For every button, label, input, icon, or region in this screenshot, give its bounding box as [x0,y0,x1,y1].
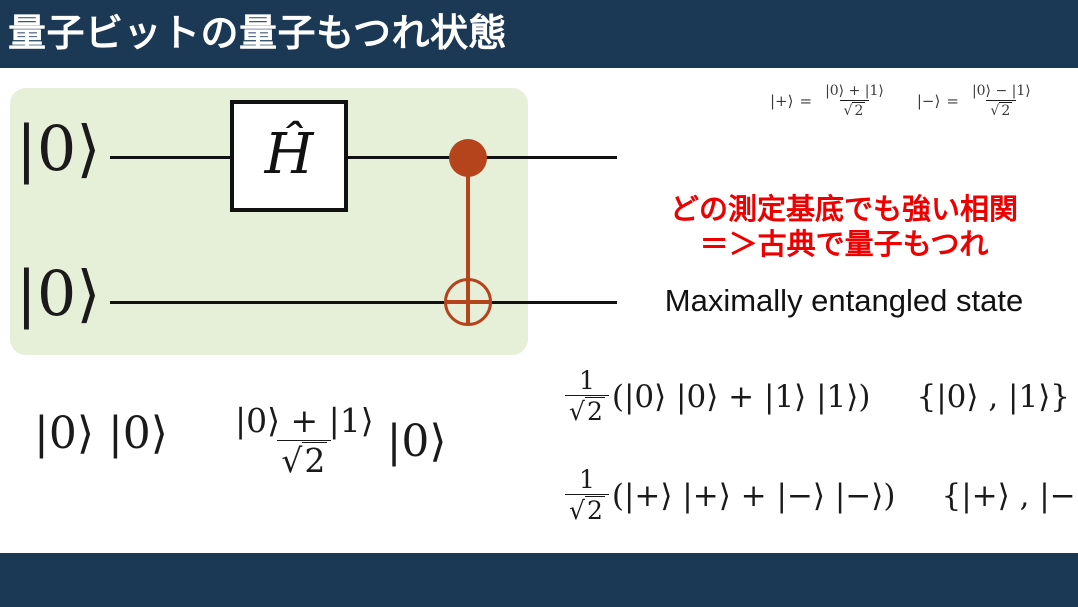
plus-denominator: √2 [840,100,870,119]
plus-numerator: |0⟩ + |1⟩ [821,84,888,100]
post-hadamard-state-expression: |0⟩ + |1⟩ √2 |0⟩ [228,404,447,478]
post-hadamard-denominator: √2 [277,440,331,479]
prefactor-radicand-hadamard: 2 [585,496,605,524]
entangled-state-row-computational: 1 √2 (|0⟩ |0⟩ + |1⟩ |1⟩) {|0⟩ , |1⟩} [562,368,1070,426]
prefactor-fraction-hadamard: 1 √2 [565,467,609,525]
entangled-expression-hadamard: 1 √2 (|+⟩ |+⟩ + |−⟩ |−⟩) [562,467,895,525]
qubit1-wire [110,301,617,304]
qubit0-wire-left [110,156,232,159]
entangled-state-row-hadamard: 1 √2 (|+⟩ |+⟩ + |−⟩ |−⟩) {|+⟩ , |−⟩} [562,467,1078,525]
prefactor-denominator-computational: √2 [565,395,609,425]
page-title: 量子ビットの量子もつれ状態 [8,2,507,66]
cnot-target-icon[interactable] [444,278,492,326]
sqrt-icon: √ [844,103,853,119]
sqrt-icon: √ [990,103,999,119]
entangled-state-note: Maximally entangled state [618,283,1070,319]
sqrt-icon: √ [569,397,585,426]
post-hadamard-radicand: 2 [302,442,327,479]
basis-set-hadamard: {|+⟩ , |−⟩} [941,478,1078,514]
sqrt-icon: √ [281,441,302,480]
initial-state-expression: |0⟩ |0⟩ [34,408,168,459]
plus-equals: = [799,92,812,110]
entangled-expression-computational: 1 √2 (|0⟩ |0⟩ + |1⟩ |1⟩) [562,368,870,426]
plus-ket: |+⟩ [770,92,793,110]
prefactor-fraction-computational: 1 √2 [565,368,609,426]
minus-denominator: √2 [986,100,1016,119]
callout-text: どの測定基底でも強い相関 ＝＞古典で量子もつれ [618,192,1070,263]
callout-line-1: どの測定基底でも強い相関 [618,192,1070,227]
prefactor-radicand-computational: 2 [585,397,605,425]
prefactor-numerator-computational: 1 [575,368,599,395]
basis-definitions: |+⟩ = |0⟩ + |1⟩ √2 |−⟩ = |0⟩ − |1⟩ √2 [770,84,1038,118]
minus-basis-definition: |−⟩ = |0⟩ − |1⟩ √2 [917,84,1038,118]
plus-fraction: |0⟩ + |1⟩ √2 [821,84,888,118]
callout-line-2: ＝＞古典で量子もつれ [618,227,1070,262]
minus-ket: |−⟩ [917,92,940,110]
minus-numerator: |0⟩ − |1⟩ [968,84,1035,100]
slide-canvas: 量子ビットの量子もつれ状態 |0⟩ |0⟩ Ĥ |+⟩ = |0⟩ + |1⟩ … [0,0,1078,607]
basis-set-computational: {|0⟩ , |1⟩} [916,379,1070,415]
sqrt-icon: √ [569,496,585,525]
hadamard-gate-label: Ĥ [234,104,344,208]
minus-equals: = [946,92,959,110]
post-hadamard-fraction: |0⟩ + |1⟩ √2 [231,404,378,478]
prefactor-denominator-hadamard: √2 [565,494,609,524]
minus-radicand: 2 [999,102,1012,119]
qubit0-input-label: |0⟩ [16,118,101,180]
plus-radicand: 2 [852,102,865,119]
post-hadamard-tail-ket: |0⟩ [387,416,447,467]
plus-basis-definition: |+⟩ = |0⟩ + |1⟩ √2 [770,84,891,118]
entangled-body-computational: (|0⟩ |0⟩ + |1⟩ |1⟩) [612,379,871,415]
post-hadamard-numerator: |0⟩ + |1⟩ [231,404,378,440]
prefactor-numerator-hadamard: 1 [575,467,599,494]
cnot-control-icon[interactable] [449,139,487,177]
footer-bar [0,553,1078,607]
hadamard-gate[interactable]: Ĥ [230,100,348,212]
qubit1-input-label: |0⟩ [16,263,101,325]
entangled-body-hadamard: (|+⟩ |+⟩ + |−⟩ |−⟩) [612,478,896,514]
minus-fraction: |0⟩ − |1⟩ √2 [968,84,1035,118]
